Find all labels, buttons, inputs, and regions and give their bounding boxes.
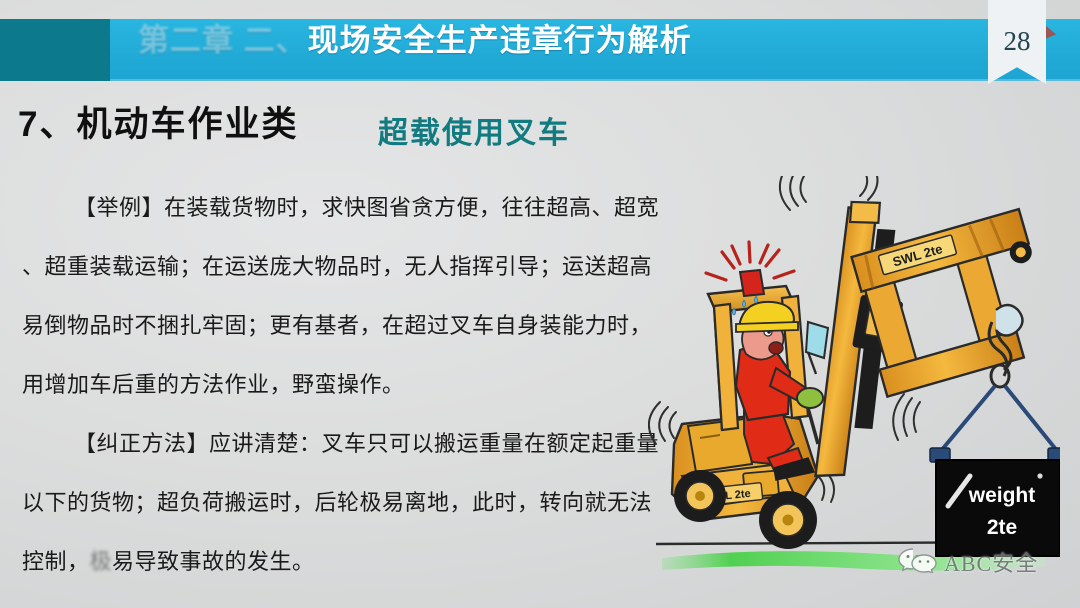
body-line-3: 易倒物品时不捆扎牢固；更有基者，在超过叉车自身装能力时， <box>22 296 662 355</box>
body-line-7-smudged-char: 极 <box>90 532 113 591</box>
watermark: ABC安全 <box>898 546 1038 578</box>
body-line-2: 、超重装载运输；在运送庞大物品时，无人指挥引导；运送超高 <box>22 237 662 296</box>
body-line-7-suffix: 易导致事故的发生。 <box>112 549 315 574</box>
load-label-weight: weight <box>968 484 1036 507</box>
section-title: 7、机动车作业类 <box>18 96 298 147</box>
load-label-tonnage: 2te <box>987 516 1017 539</box>
body-line-1: 【举例】在装载货物时，求快图省贪方便，往往超高、超宽 <box>22 178 662 237</box>
wechat-icon <box>898 547 938 578</box>
watermark-text: ABC安全 <box>944 546 1038 578</box>
body-line-5: 【纠正方法】应讲清楚：叉车只可以搬运重量在额定起重量 <box>22 414 662 473</box>
header-title-chapter: 第二章 二、 <box>138 23 308 58</box>
body-line-4: 用增加车后重的方法作业，野蛮操作。 <box>22 355 662 414</box>
header-title-main: 现场安全生产违章行为解析 <box>308 23 692 58</box>
motion-lines-load <box>893 394 1060 440</box>
header-left-block <box>0 19 110 81</box>
body-line-6: 以下的货物；超负荷搬运时，后轮极易离地，此时，转向就无法 <box>22 473 662 532</box>
motion-lines-left <box>649 402 676 444</box>
slide-subtitle: 超载使用叉车 <box>378 108 570 152</box>
body-line-7-prefix: 控制， <box>22 549 90 574</box>
page-number: 28 <box>988 26 1046 57</box>
forklift-illustration: SWL 2te <box>648 176 1060 580</box>
cab-mirror <box>806 322 828 374</box>
body-text-block: 【举例】在装载货物时，求快图省贪方便，往往超高、超宽 、超重装载运输；在运送庞大… <box>22 178 662 591</box>
header-title: 第二章 二、现场安全生产违章行为解析 <box>138 19 898 63</box>
slide-canvas: 第二章 二、现场安全生产违章行为解析 28 7、机动车作业类 超载使用叉车 【举… <box>0 0 1080 608</box>
body-line-7: 控制，极易导致事故的发生。 <box>22 532 662 591</box>
